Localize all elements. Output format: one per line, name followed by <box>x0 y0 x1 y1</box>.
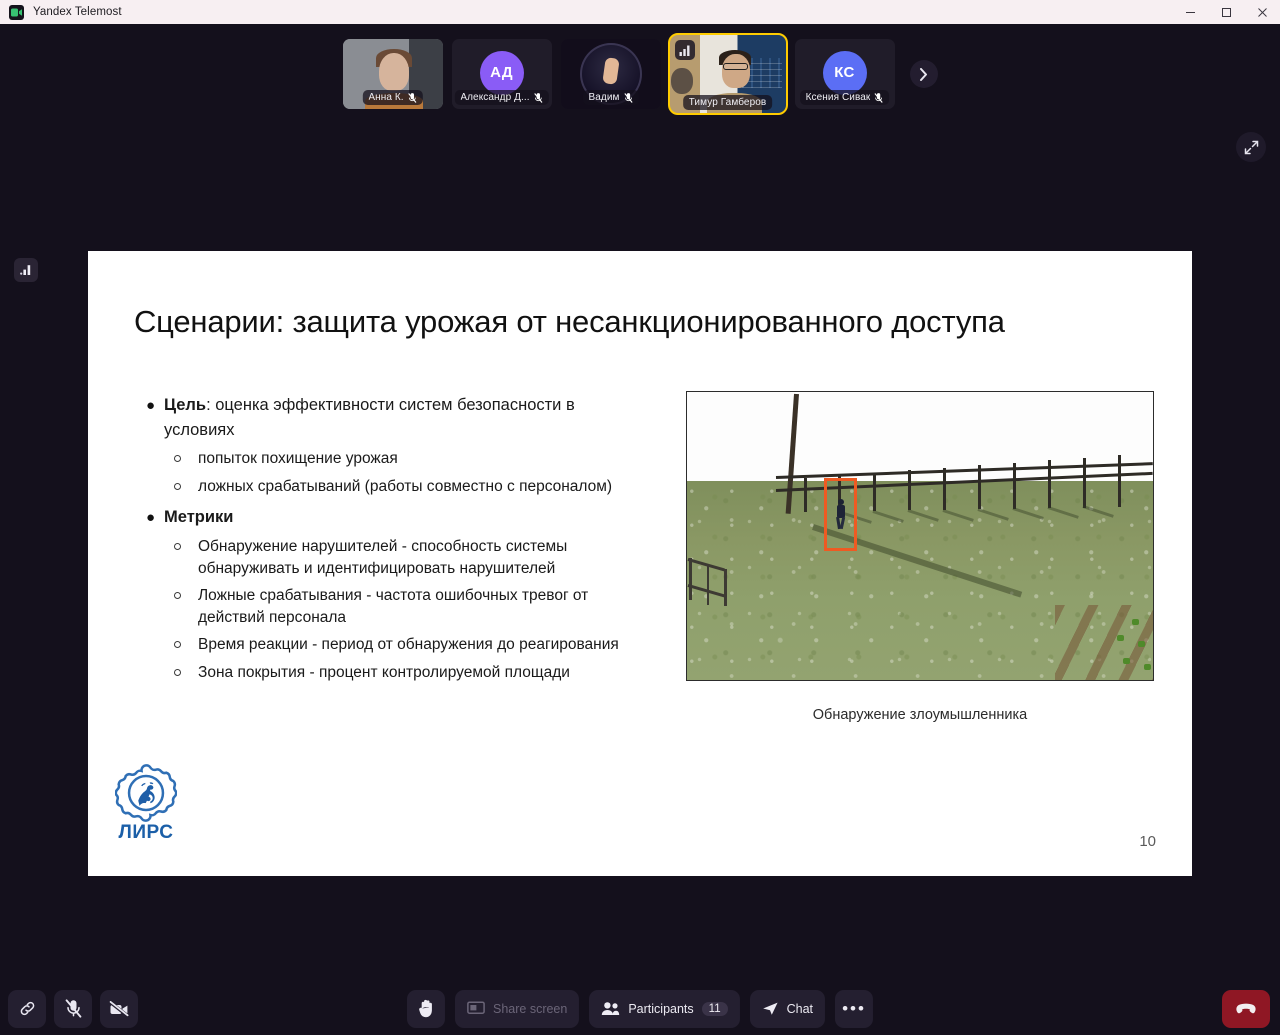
bullet-ring-icon <box>140 476 198 498</box>
organization-logo: ЛИРС <box>100 762 192 844</box>
fence-post <box>1083 458 1086 508</box>
chat-label: Chat <box>787 1002 813 1016</box>
bullet-level2: Зона покрытия - процент контролируемой п… <box>140 662 640 684</box>
window-controls <box>1172 0 1280 24</box>
bullet-ring-icon <box>140 585 198 628</box>
microphone-muted-icon <box>534 93 543 103</box>
copy-link-button[interactable] <box>8 990 46 1028</box>
avatar-face <box>379 53 409 91</box>
simulation-screenshot <box>686 391 1154 681</box>
fence-post <box>1118 455 1121 507</box>
slide-title: Сценарии: защита урожая от несанкциониро… <box>134 304 1144 340</box>
bullet-ring-icon <box>140 448 198 470</box>
fence-post <box>978 465 981 509</box>
microphone-muted-icon <box>874 93 883 103</box>
share-screen-button[interactable]: Share screen <box>455 990 579 1028</box>
bullet-level1: ● Цель: оценка эффективности систем безо… <box>140 393 640 442</box>
participant-tile-kseniya[interactable]: КС Ксения Сивак <box>795 39 895 109</box>
participant-name: Вадим <box>588 92 619 103</box>
meeting-toolbar: Share screen Participants 11 Chat <box>0 982 1280 1035</box>
hangup-button[interactable] <box>1222 990 1270 1028</box>
more-options-button[interactable]: ••• <box>835 990 873 1028</box>
bullet-heading-bold: Метрики <box>164 508 233 526</box>
fence-post <box>943 468 946 510</box>
bullet-heading-rest: : оценка эффективности систем безопаснос… <box>164 396 575 439</box>
minimize-icon[interactable] <box>1172 0 1208 24</box>
crop-rows <box>1055 605 1153 680</box>
detection-bounding-box <box>824 478 857 551</box>
fence-post <box>1013 463 1016 509</box>
screen-share-indicator <box>14 258 38 282</box>
participant-name-pill: Тимур Гамберов <box>683 95 773 110</box>
bullet-text: Время реакции - период от обнаружения до… <box>198 634 619 656</box>
bullet-text: Ложные срабатывания - частота ошибочных … <box>198 585 640 628</box>
bullet-dot-icon: ● <box>140 505 164 530</box>
camera-muted-icon <box>109 1001 129 1017</box>
chevron-right-icon <box>919 68 928 81</box>
telemost-icon <box>9 5 24 20</box>
window-title: Yandex Telemost <box>33 6 122 18</box>
bullet-text: Обнаружение нарушителей - способность си… <box>198 536 640 579</box>
participants-strip: Анна К. АД Александр Д... <box>0 26 1280 122</box>
presentation-stage: Сценарии: защита урожая от несанкциониро… <box>0 122 1280 982</box>
participant-name: Ксения Сивак <box>806 92 871 103</box>
bullet-heading-bold: Цель <box>164 396 206 414</box>
more-dots-icon: ••• <box>842 1004 866 1014</box>
send-chat-icon <box>762 1001 779 1016</box>
bullet-level2: Ложные срабатывания - частота ошибочных … <box>140 585 640 628</box>
toolbar-center-group: Share screen Participants 11 Chat <box>407 990 873 1028</box>
microphone-muted-icon <box>624 93 633 103</box>
lirs-gear-icon <box>115 762 177 824</box>
participant-tile-aleksandr[interactable]: АД Александр Д... <box>452 39 552 109</box>
share-screen-label: Share screen <box>493 1002 567 1016</box>
bullet-text: Зона покрытия - процент контролируемой п… <box>198 662 570 684</box>
toolbar-right-group <box>1222 990 1270 1028</box>
participant-name: Анна К. <box>368 92 403 103</box>
avatar: АД <box>480 51 524 95</box>
chat-button[interactable]: Chat <box>750 990 825 1028</box>
bullet-level2: попыток похищение урожая <box>140 448 640 470</box>
raise-hand-icon <box>417 999 434 1018</box>
slide-page-number: 10 <box>1139 833 1156 850</box>
participant-name-pill: Вадим <box>582 90 638 105</box>
participant-name: Александр Д... <box>460 92 529 103</box>
participant-name-pill: Ксения Сивак <box>800 90 890 105</box>
telemost-app: Анна К. АД Александр Д... <box>0 24 1280 1035</box>
fence-post <box>873 473 876 511</box>
bullet-ring-icon <box>140 536 198 579</box>
expand-fullscreen-button[interactable] <box>1236 132 1266 162</box>
camera-toggle-button[interactable] <box>100 990 138 1028</box>
bullet-text: попыток похищение урожая <box>198 448 398 470</box>
slide-bullet-list: ● Цель: оценка эффективности систем безо… <box>140 393 640 683</box>
secondary-person <box>671 68 693 94</box>
raise-hand-button[interactable] <box>407 990 445 1028</box>
participants-count-badge: 11 <box>702 1002 728 1016</box>
participant-tile-vadim[interactable]: Вадим <box>561 39 661 109</box>
expand-fullscreen-icon <box>1244 140 1259 155</box>
presentation-bars-icon <box>20 264 33 276</box>
bullet-ring-icon <box>140 662 198 684</box>
bullet-dot-icon: ● <box>140 393 164 442</box>
bullet-level2: ложных срабатываний (работы совместно с … <box>140 476 640 498</box>
close-icon[interactable] <box>1244 0 1280 24</box>
fallen-fence-section <box>687 542 752 617</box>
participants-label: Participants <box>628 1002 693 1016</box>
participant-tile-timur-active[interactable]: Тимур Гамберов <box>670 35 786 113</box>
bullet-level2: Время реакции - период от обнаружения до… <box>140 634 640 656</box>
participant-name-pill: Анна К. <box>362 90 422 105</box>
avatar-face <box>722 54 750 88</box>
hangup-icon <box>1235 1003 1257 1014</box>
microphone-muted-icon <box>408 93 417 103</box>
bullet-ring-icon <box>140 634 198 656</box>
strip-next-button[interactable] <box>910 60 938 88</box>
participant-name-pill: Александр Д... <box>454 90 548 105</box>
bullet-level1: ● Метрики <box>140 505 640 530</box>
avatar: КС <box>823 51 867 95</box>
bullet-level2: Обнаружение нарушителей - способность си… <box>140 536 640 579</box>
participants-button[interactable]: Participants 11 <box>589 990 739 1028</box>
fence-post <box>804 478 807 512</box>
presentation-bars-icon <box>675 40 695 60</box>
maximize-icon[interactable] <box>1208 0 1244 24</box>
toolbar-left-group <box>8 990 138 1028</box>
bullet-text: ложных срабатываний (работы совместно с … <box>198 476 612 498</box>
fence-post <box>908 470 911 510</box>
share-screen-icon <box>467 1001 485 1016</box>
microphone-toggle-button[interactable] <box>54 990 92 1028</box>
microphone-muted-icon <box>65 999 82 1018</box>
participant-name: Тимур Гамберов <box>689 97 767 108</box>
people-icon <box>601 1001 620 1016</box>
shared-slide: Сценарии: защита урожая от несанкциониро… <box>88 251 1192 876</box>
logo-text: ЛИРС <box>100 822 192 844</box>
slide-figure: Обнаружение злоумышленника <box>686 391 1154 723</box>
link-icon <box>19 1000 36 1017</box>
fence-post <box>1048 460 1051 508</box>
window-title-bar: Yandex Telemost <box>0 0 1280 24</box>
participant-tile-anna[interactable]: Анна К. <box>343 39 443 109</box>
figure-caption: Обнаружение злоумышленника <box>686 707 1154 723</box>
avatar-glasses <box>723 63 748 70</box>
